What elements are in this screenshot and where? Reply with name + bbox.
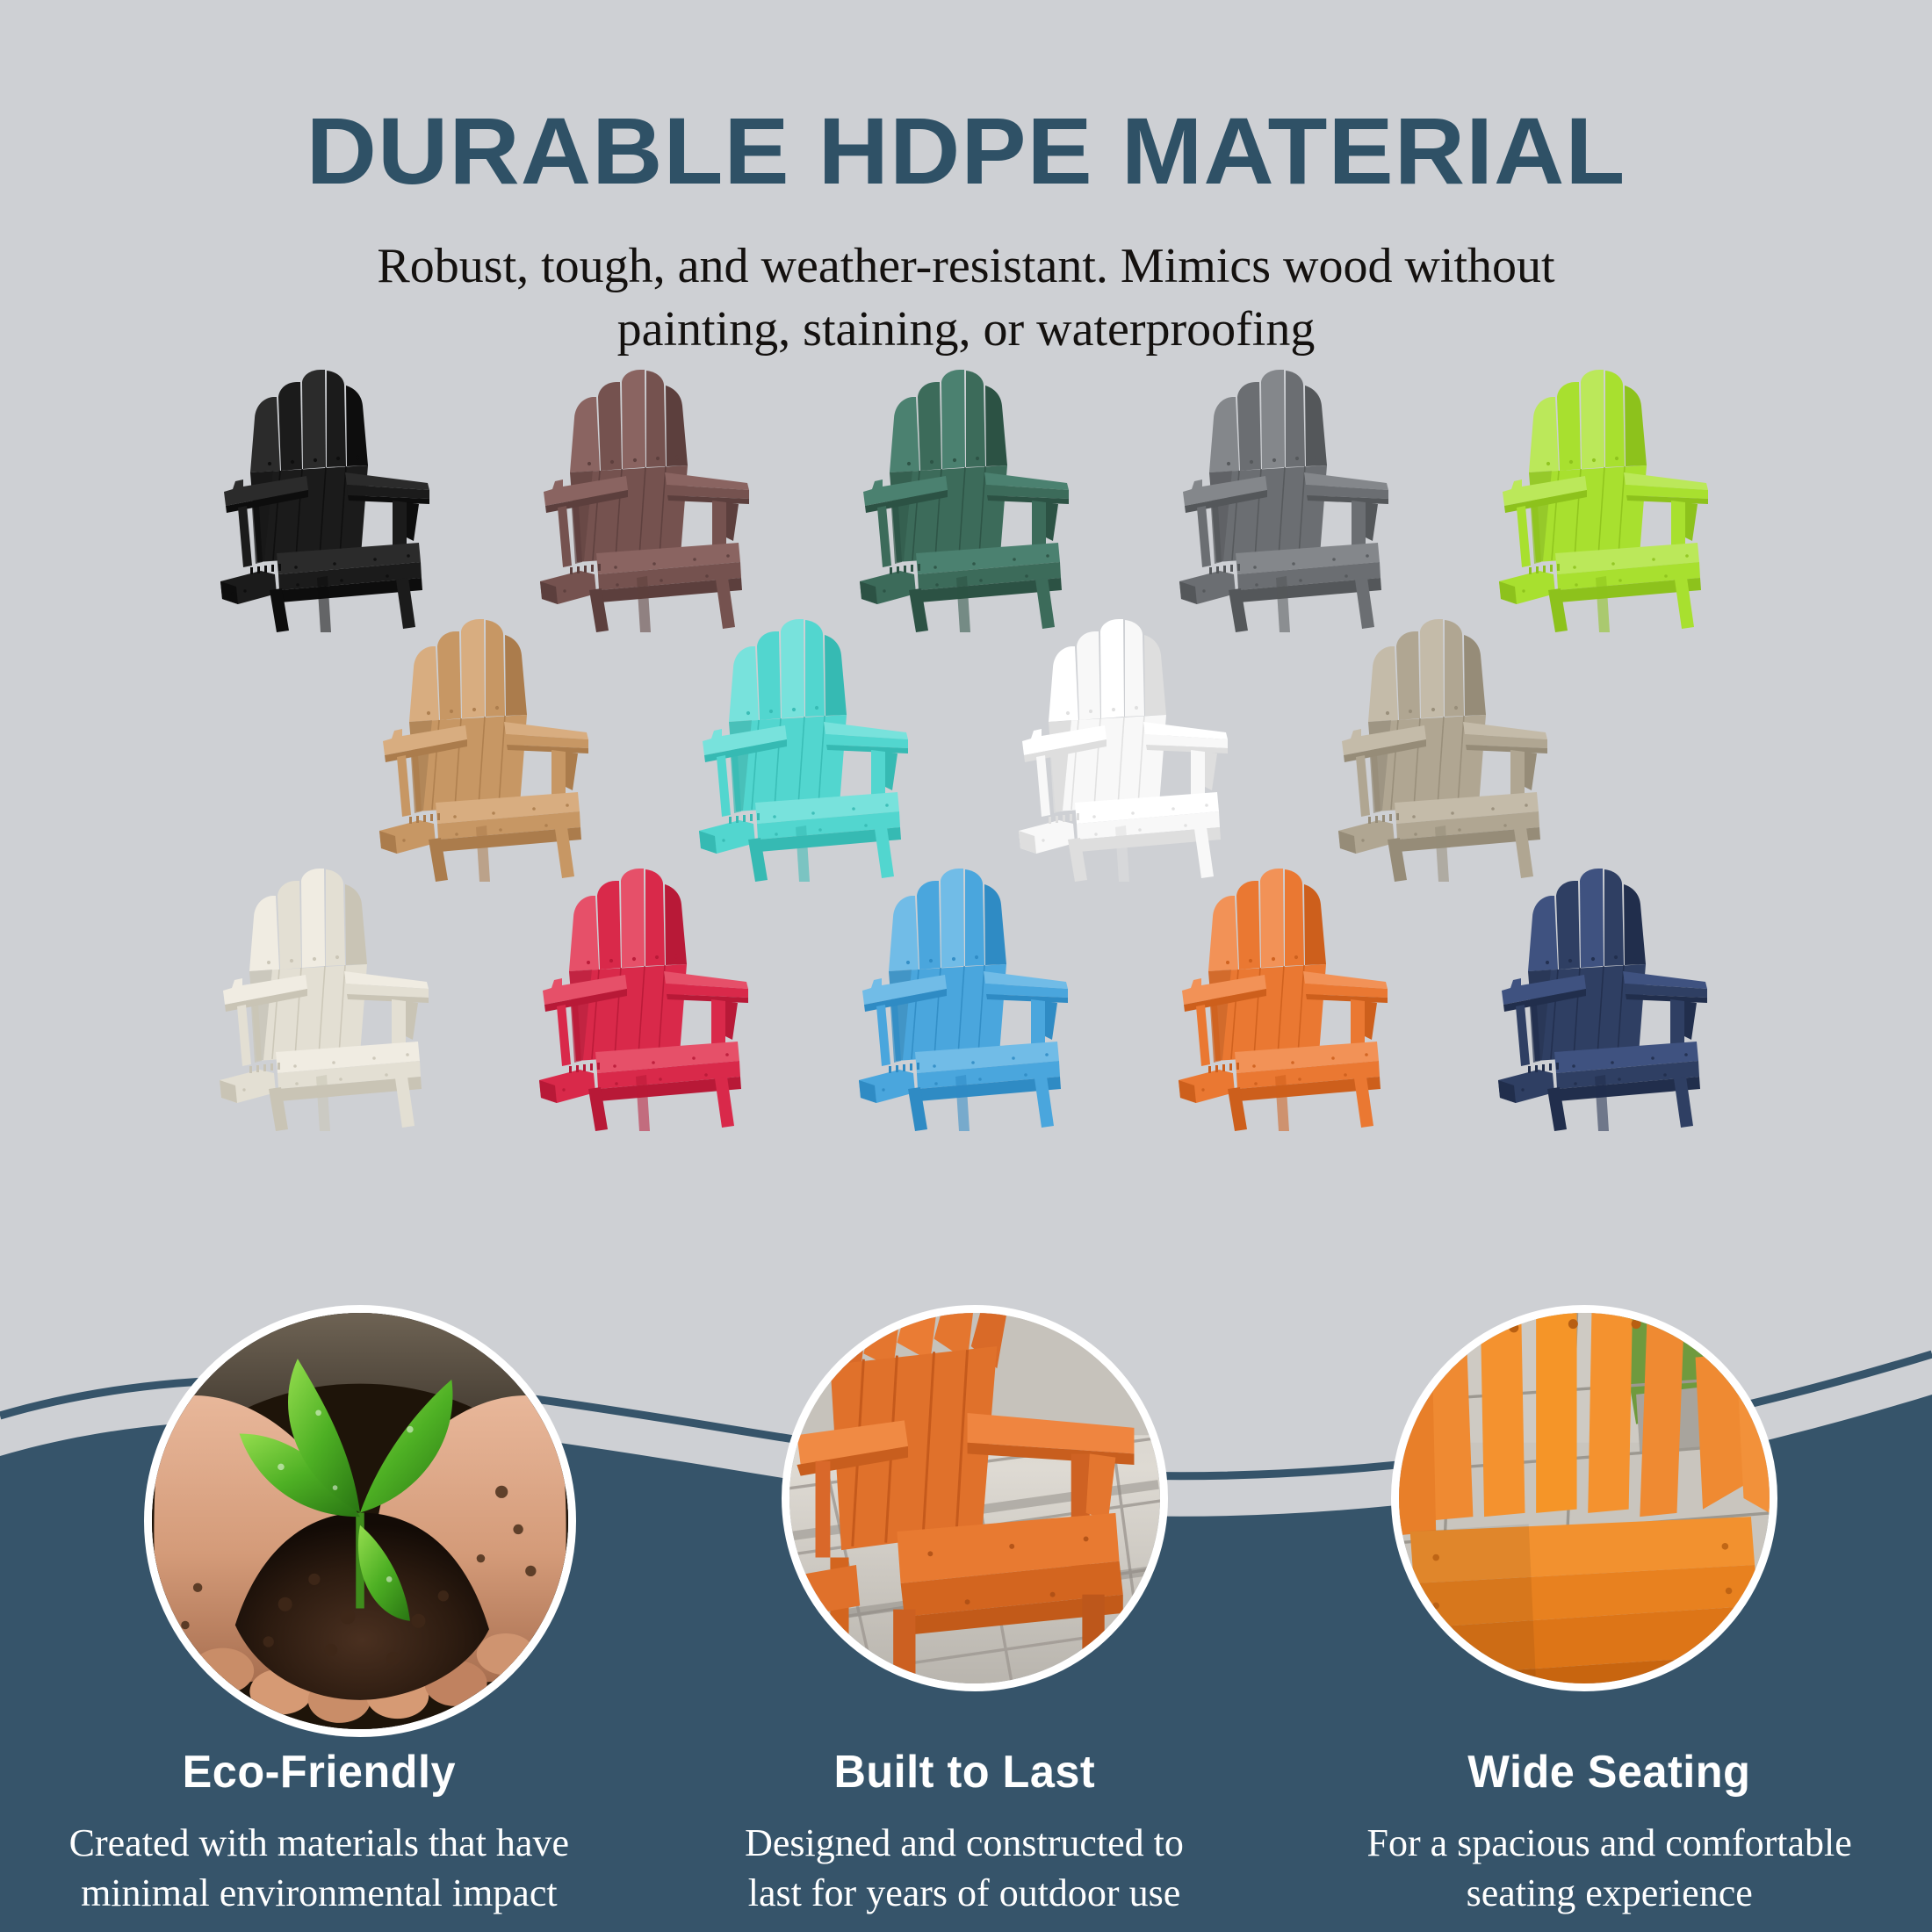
chair-swatch-dark-brown[interactable] [531, 367, 767, 632]
feature-wide-seating: Wide Seating For a spacious and comforta… [1287, 1746, 1932, 1918]
feature-desc-line-1: For a spacious and comfortable [1309, 1818, 1909, 1868]
chair-color-grid [0, 367, 1932, 1131]
adirondack-chair-svg [690, 616, 926, 882]
wide-seating-image [1391, 1305, 1777, 1691]
chair-swatch-white[interactable] [1010, 616, 1245, 882]
adirondack-chair-svg [212, 367, 447, 632]
feature-desc-line-1: Created with materials that have [19, 1818, 619, 1868]
adirondack-chair-svg [1330, 616, 1565, 882]
feature-desc-line-1: Designed and constructed to [665, 1818, 1265, 1868]
chair-swatch-teak[interactable] [371, 616, 606, 882]
feature-description: For a spacious and comfortable seating e… [1309, 1818, 1909, 1918]
feature-eco-friendly: Eco-Friendly Created with materials that… [0, 1746, 642, 1918]
adirondack-chair-svg [851, 367, 1086, 632]
feature-desc-line-2: minimal environmental impact [19, 1868, 619, 1918]
chair-swatch-ivory[interactable] [211, 866, 446, 1131]
adirondack-chair-svg [1489, 866, 1725, 1131]
feature-desc-line-2: seating experience [1309, 1868, 1909, 1918]
chair-swatch-forest-green[interactable] [851, 367, 1086, 632]
chair-swatch-turquoise[interactable] [690, 616, 926, 882]
chair-swatch-black[interactable] [212, 367, 447, 632]
page-title: DURABLE HDPE MATERIAL [0, 104, 1932, 198]
chair-swatch-gray[interactable] [1171, 367, 1406, 632]
feature-title: Wide Seating [1319, 1746, 1900, 1799]
feature-list: Eco-Friendly Created with materials that… [0, 1746, 1932, 1918]
chair-swatch-lime-green[interactable] [1490, 367, 1726, 632]
adirondack-chair-svg [211, 866, 446, 1131]
chair-row-3 [0, 866, 1932, 1131]
adirondack-chair-svg [1490, 367, 1726, 632]
header-block: DURABLE HDPE MATERIAL Robust, tough, and… [0, 0, 1932, 361]
adirondack-chair-svg [531, 367, 767, 632]
eco-friendly-image [144, 1305, 576, 1737]
adirondack-chair-svg [1170, 866, 1405, 1131]
feature-title: Eco-Friendly [28, 1746, 609, 1799]
feature-desc-line-2: last for years of outdoor use [665, 1868, 1265, 1918]
feature-description: Designed and constructed to last for yea… [665, 1818, 1265, 1918]
footer-section: Eco-Friendly Created with materials that… [0, 1326, 1932, 1932]
adirondack-chair-svg [371, 616, 606, 882]
chair-swatch-orange[interactable] [1170, 866, 1405, 1131]
chair-swatch-weathered-wood[interactable] [1330, 616, 1565, 882]
chair-swatch-navy-blue[interactable] [1489, 866, 1725, 1131]
chair-swatch-red[interactable] [530, 866, 766, 1131]
subtitle-line-2: painting, staining, or waterproofing [0, 299, 1932, 362]
built-to-last-image [782, 1305, 1168, 1691]
adirondack-chair-svg [850, 866, 1085, 1131]
feature-title: Built to Last [674, 1746, 1255, 1799]
adirondack-chair-svg [1010, 616, 1245, 882]
adirondack-chair-svg [1171, 367, 1406, 632]
adirondack-chair-svg [530, 866, 766, 1131]
page-subtitle: Robust, tough, and weather-resistant. Mi… [0, 235, 1932, 361]
chair-row-1 [0, 367, 1932, 632]
feature-description: Created with materials that have minimal… [19, 1818, 619, 1918]
subtitle-line-1: Robust, tough, and weather-resistant. Mi… [0, 235, 1932, 299]
chair-swatch-light-blue[interactable] [850, 866, 1085, 1131]
chair-row-2 [0, 616, 1932, 882]
feature-built-to-last: Built to Last Designed and constructed t… [642, 1746, 1287, 1918]
